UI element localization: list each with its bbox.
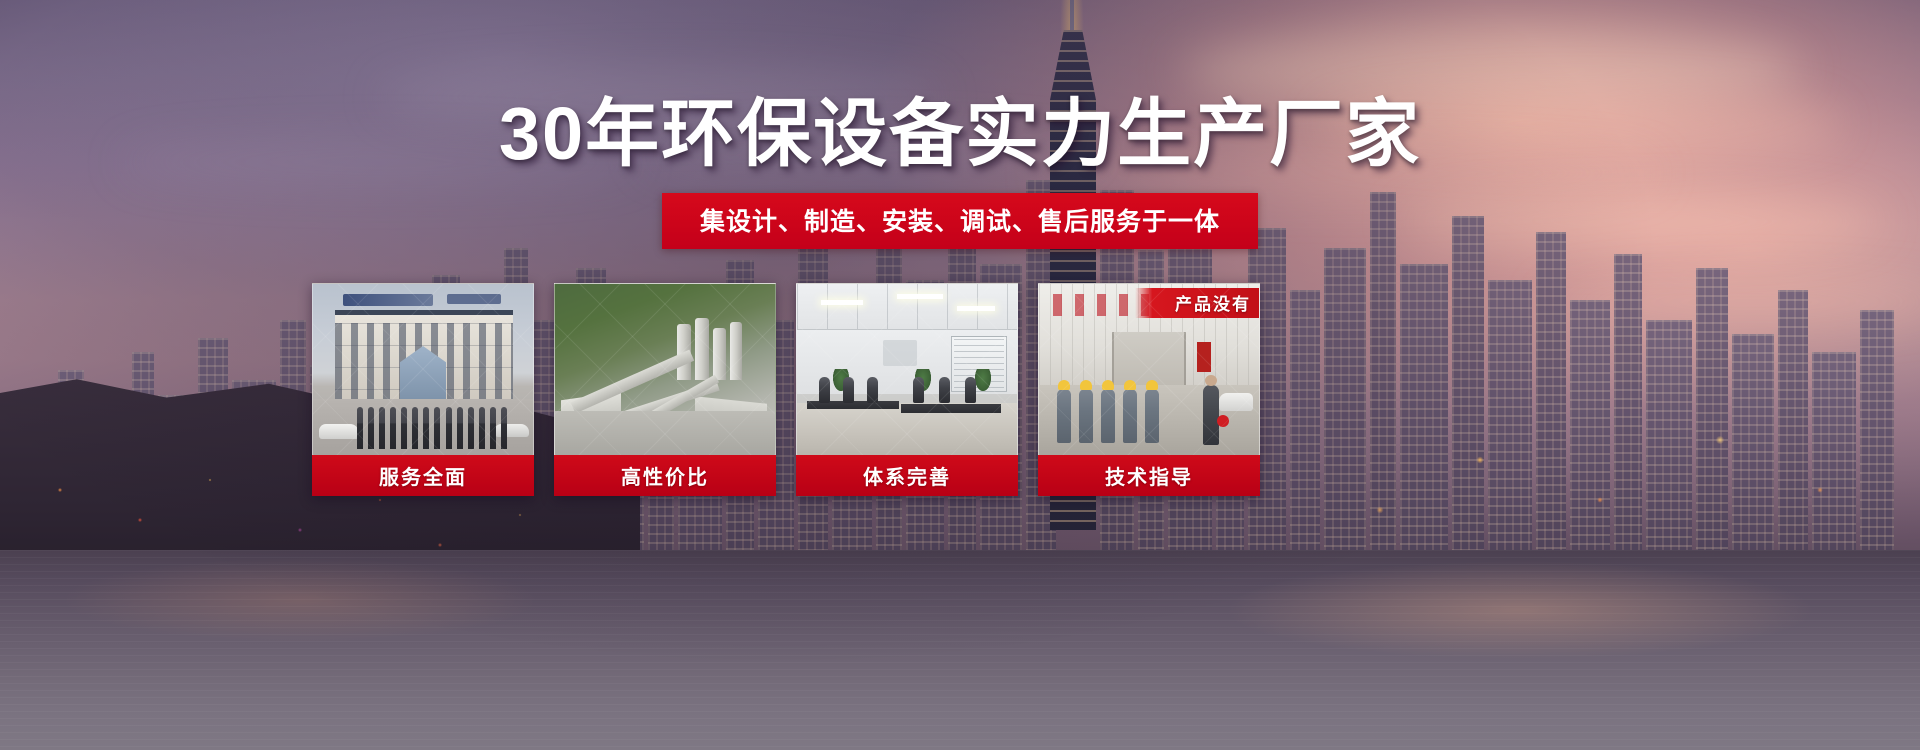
aerial-production-plant-photo <box>554 283 776 455</box>
company-headquarters-building-photo <box>312 283 534 455</box>
feature-card-caption: 体系完善 <box>796 455 1018 496</box>
feature-card[interactable]: 服务全面 <box>312 283 534 496</box>
feature-card-caption: 服务全面 <box>312 455 534 496</box>
staff-row <box>357 401 507 449</box>
wall-logo-icon <box>883 340 917 366</box>
subtitle-row: 集设计、制造、安装、调试、售后服务于一体 <box>0 193 1920 249</box>
feature-card-list: 服务全面 高性价比 <box>312 283 1260 496</box>
building-sign-icon <box>343 294 433 306</box>
building-phone-sign-icon <box>447 294 501 304</box>
feature-card-caption: 高性价比 <box>554 455 776 496</box>
feature-card-caption: 技术指导 <box>1038 455 1260 496</box>
feature-card[interactable]: 高性价比 <box>554 283 776 496</box>
workshop-banner: 产品没有 <box>1135 288 1259 318</box>
banner-content: 30年环保设备实力生产厂家 集设计、制造、安装、调试、售后服务于一体 <box>0 0 1920 750</box>
workshop-workers-photo: 产品没有 <box>1038 283 1260 455</box>
feature-card[interactable]: 体系完善 <box>796 283 1018 496</box>
office-interior-team-photo <box>796 283 1018 455</box>
page-title: 30年环保设备实力生产厂家 <box>0 97 1920 171</box>
feature-card[interactable]: 产品没有 技术指导 <box>1038 283 1260 496</box>
subtitle-badge: 集设计、制造、安装、调试、售后服务于一体 <box>662 193 1258 249</box>
red-helmet-icon <box>1217 415 1229 427</box>
workshop-banner-text: 产品没有 <box>1175 290 1251 315</box>
hero-banner: 30年环保设备实力生产厂家 集设计、制造、安装、调试、售后服务于一体 <box>0 0 1920 750</box>
